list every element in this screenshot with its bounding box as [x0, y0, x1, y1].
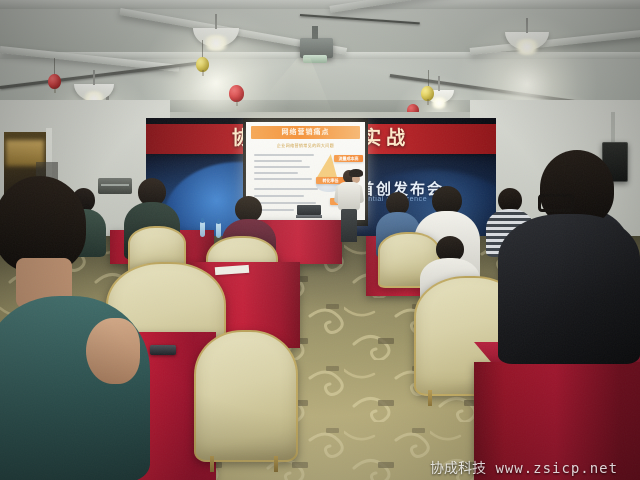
lamp-bulb — [512, 39, 542, 55]
ceiling-projector — [300, 38, 333, 58]
pendant-lamp-left — [74, 84, 114, 101]
chair-leg — [428, 390, 432, 406]
slide-text-line — [254, 160, 302, 162]
laptop-base — [296, 215, 322, 218]
slide-text-line — [254, 178, 312, 180]
balloon-red-center — [229, 85, 244, 102]
presenter — [336, 170, 362, 242]
balloon-red-left — [48, 74, 61, 89]
slide-text-line — [254, 166, 310, 168]
lamp-stem — [215, 14, 217, 29]
slide-pill-1: 流量成本高 — [334, 155, 363, 162]
attendee-foreground-teal — [0, 296, 150, 480]
presenter-shirt — [338, 182, 360, 210]
slide-subheader: 企业网络营销常见的四大问题 — [256, 143, 355, 149]
speaker-pole — [611, 112, 615, 146]
watermark-url: www.zsicp.net — [495, 461, 618, 477]
slide-pill-1-label: 流量成本高 — [334, 155, 363, 162]
lamp-stem — [526, 18, 528, 33]
lamp-stem — [438, 76, 440, 91]
attendee-body — [498, 214, 640, 364]
pendant-lamp-right — [505, 32, 549, 50]
slide-text-line — [254, 154, 314, 156]
chair-front-center — [194, 330, 294, 458]
lamp-stem — [93, 70, 95, 85]
balloon-string — [428, 70, 429, 86]
attendee-glasses — [538, 194, 574, 212]
balloon-yellow — [196, 57, 209, 72]
water-bottle — [200, 222, 205, 237]
slide-text-line — [254, 188, 318, 190]
slide-text-line — [254, 172, 298, 174]
laptop-lid — [297, 205, 321, 215]
presenter-hair — [349, 169, 363, 177]
lamp-bulb — [200, 35, 232, 51]
slide-header-text: 网络营销痛点 — [251, 126, 360, 139]
site-watermark: 协成科技 www.zsicp.net — [430, 458, 636, 476]
pendant-lamp-center-left — [193, 28, 239, 47]
presenter-trousers — [341, 209, 357, 242]
watermark-brand: 协成科技 — [430, 461, 486, 477]
attendee-foreground-black — [498, 150, 640, 360]
attendee-arm — [86, 318, 140, 384]
balloon-string — [202, 40, 203, 58]
projector-mount — [312, 26, 318, 39]
chair-leg — [210, 456, 214, 472]
chair-back — [194, 330, 298, 462]
laptop — [296, 205, 322, 218]
photo-scene: 协成科技 与实战 下首创发布会 ai potential conference … — [0, 0, 640, 480]
mobile-phone — [150, 345, 176, 355]
balloon-yellow-r — [421, 86, 434, 101]
chair-leg — [274, 456, 278, 472]
